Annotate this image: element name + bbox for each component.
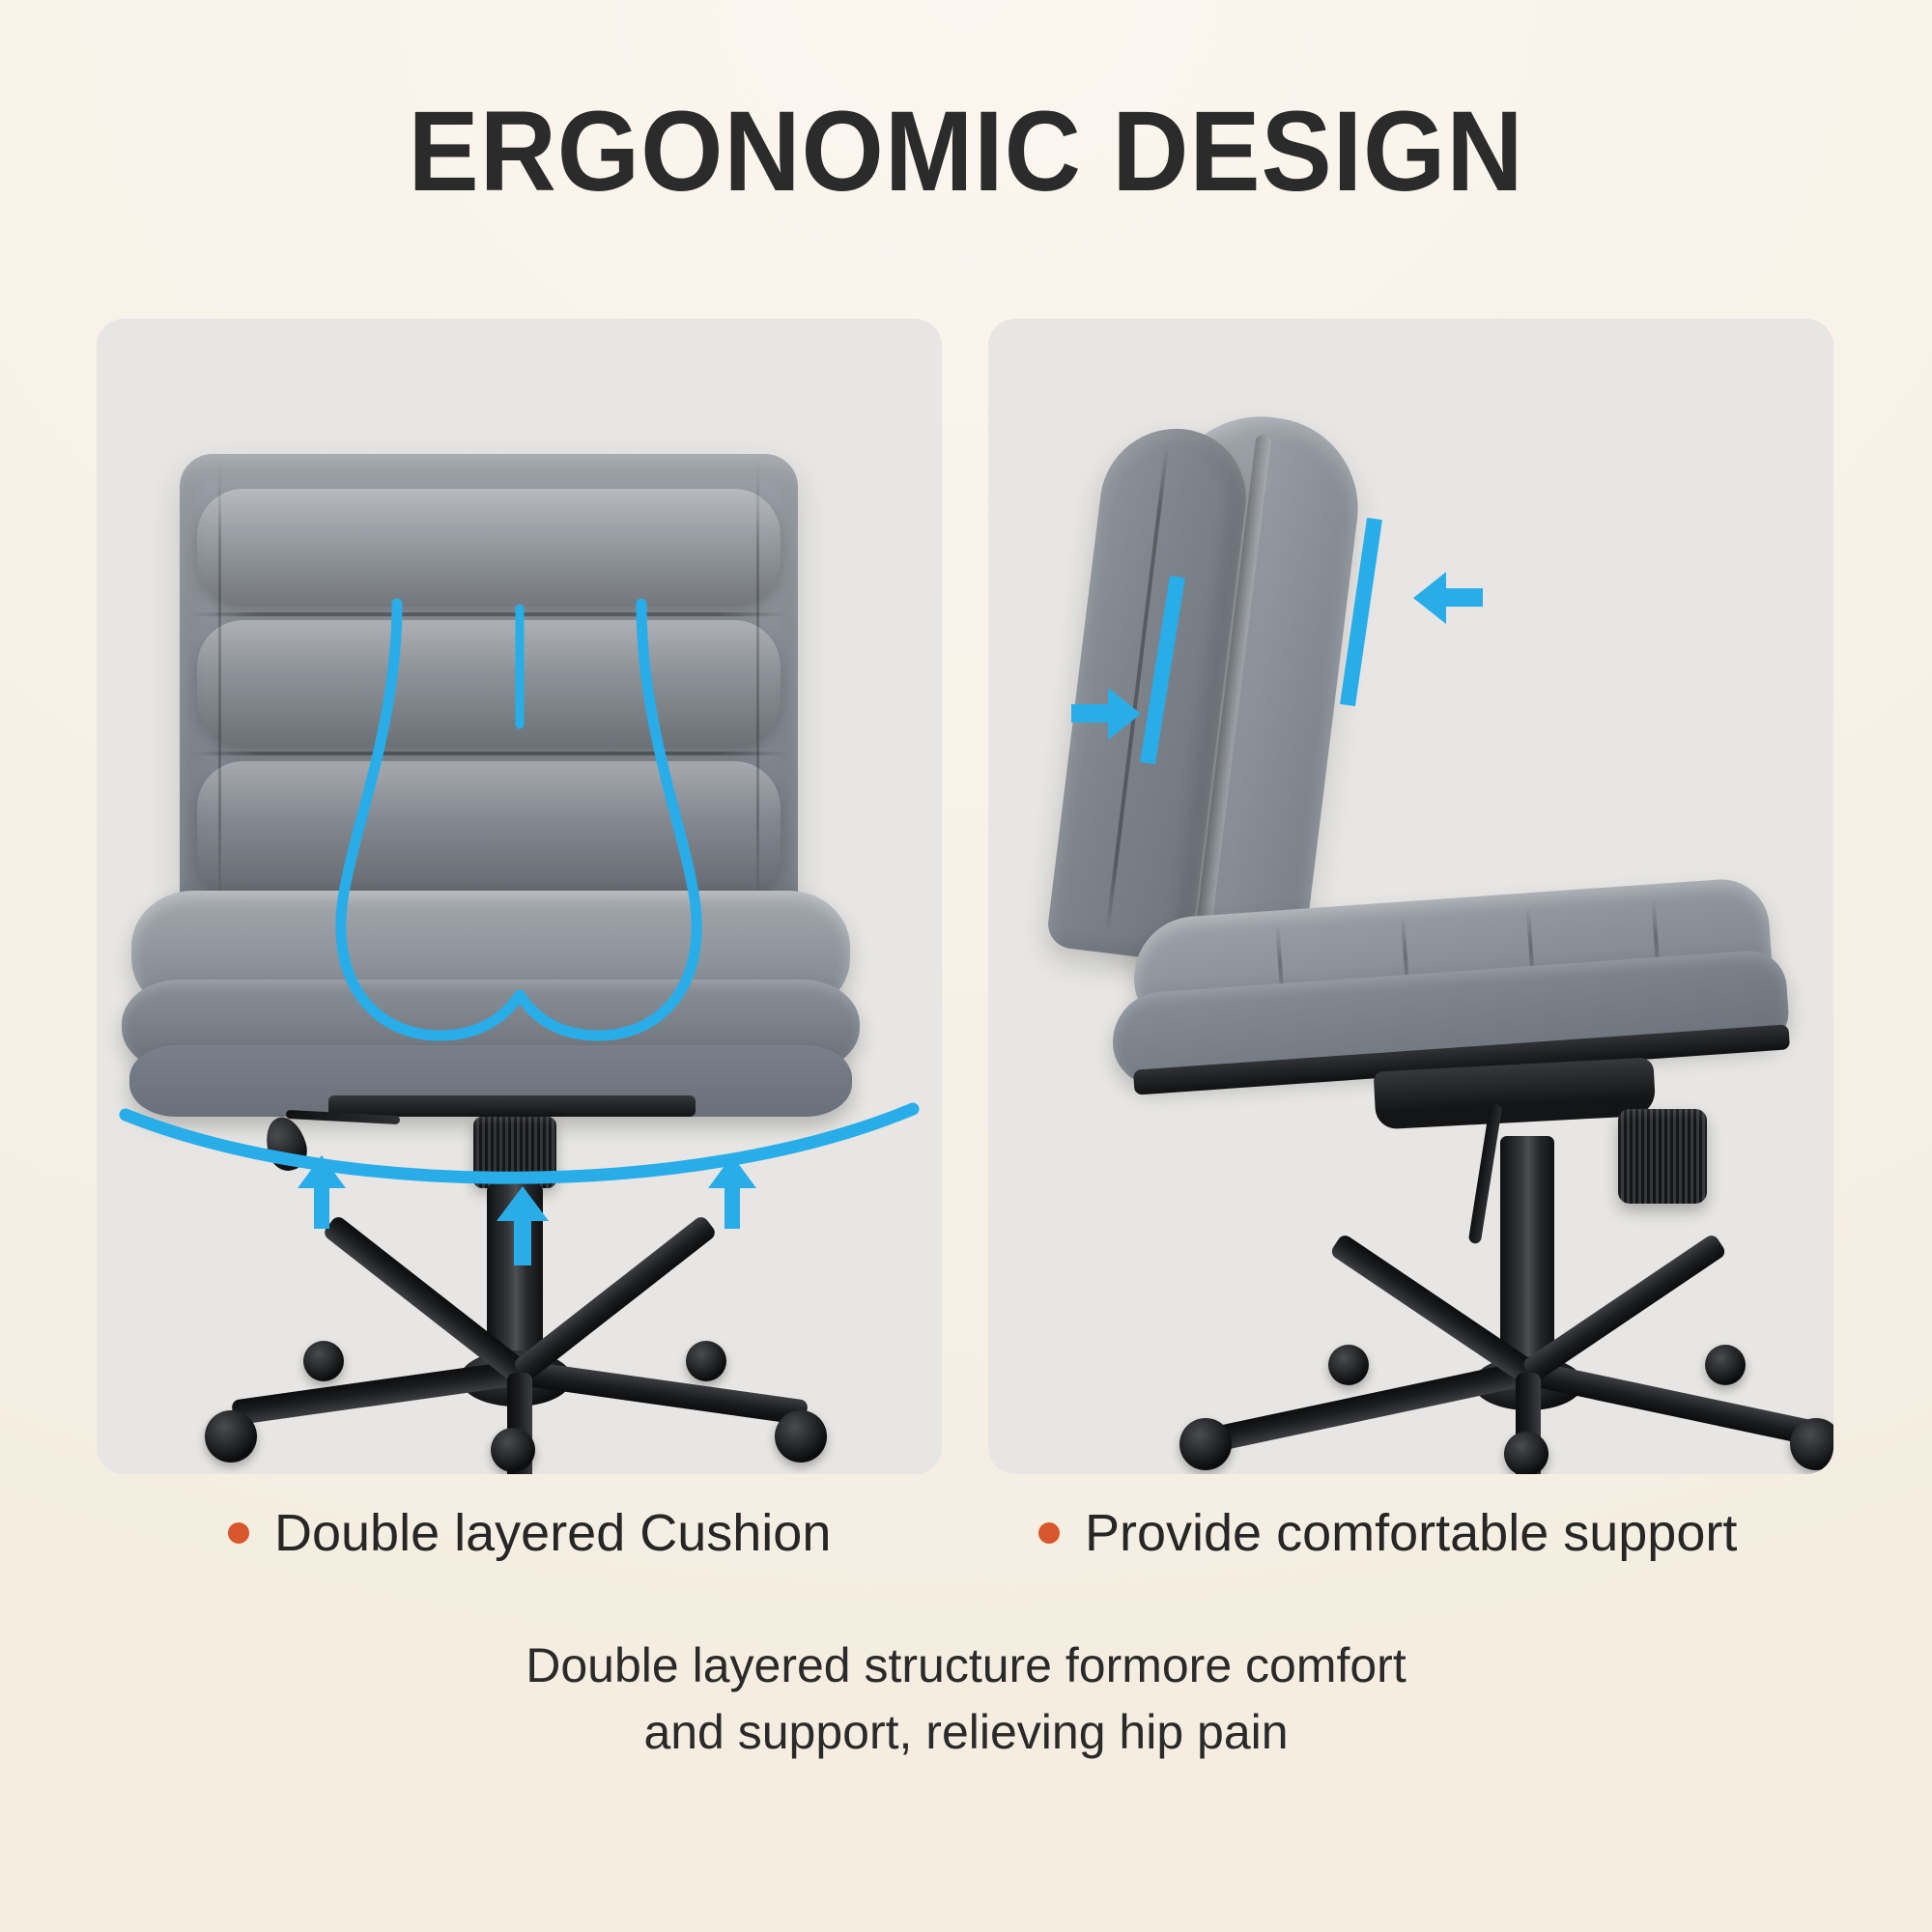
caster-right — [775, 1410, 827, 1463]
caster-left — [1179, 1418, 1232, 1470]
backrest-channel-2 — [197, 620, 781, 748]
left-panel-clip — [97, 319, 942, 1474]
right-panel-clip — [988, 319, 1833, 1474]
backrest-inner-seam — [1105, 442, 1169, 934]
caption-left-label: Double layered Cushion — [274, 1503, 831, 1563]
tension-knob — [1618, 1109, 1707, 1204]
backrest-side-seam-left — [218, 462, 221, 910]
caster-right — [1790, 1418, 1833, 1470]
seat-mechanism-plate — [328, 1095, 696, 1117]
left-panel — [97, 319, 942, 1474]
page-title: ERGONOMIC DESIGN — [68, 93, 1864, 213]
caption-right-label: Provide comfortable support — [1085, 1503, 1737, 1563]
caster-front — [1504, 1432, 1548, 1474]
backrest-channel-1 — [197, 489, 781, 607]
caster-back-left — [303, 1341, 344, 1381]
backrest-seam-1 — [189, 612, 788, 616]
footer-line-2: and support, relieving hip pain — [0, 1699, 1932, 1766]
base-arm-right — [1525, 1360, 1833, 1451]
backrest-channel-3 — [197, 761, 781, 902]
footer-description: Double layered structure formore comfort… — [0, 1633, 1932, 1766]
caster-back-right — [1705, 1345, 1746, 1385]
backrest-seam-2 — [189, 752, 788, 755]
arrow-up-right — [708, 1155, 756, 1229]
chair-front-view — [97, 319, 942, 1474]
chair-backrest — [180, 454, 798, 918]
chair-side-view — [988, 319, 1833, 1474]
base-arm-left — [1214, 1360, 1531, 1451]
backrest-side-seam-right — [756, 462, 759, 910]
caster-left — [205, 1410, 257, 1463]
bullet-icon — [228, 1522, 249, 1544]
caster-back-left — [1328, 1345, 1369, 1385]
footer-line-1: Double layered structure formore comfort — [0, 1633, 1932, 1699]
right-panel — [988, 319, 1833, 1474]
lever-handle — [260, 1113, 312, 1176]
caster-back-right — [686, 1341, 726, 1381]
thickness-arrow-right — [1413, 572, 1483, 624]
caster-front — [491, 1428, 535, 1472]
caption-right: Provide comfortable support — [1038, 1503, 1737, 1563]
bullet-icon — [1038, 1522, 1060, 1544]
tension-knob — [473, 1117, 556, 1188]
caption-left: Double layered Cushion — [228, 1503, 831, 1563]
